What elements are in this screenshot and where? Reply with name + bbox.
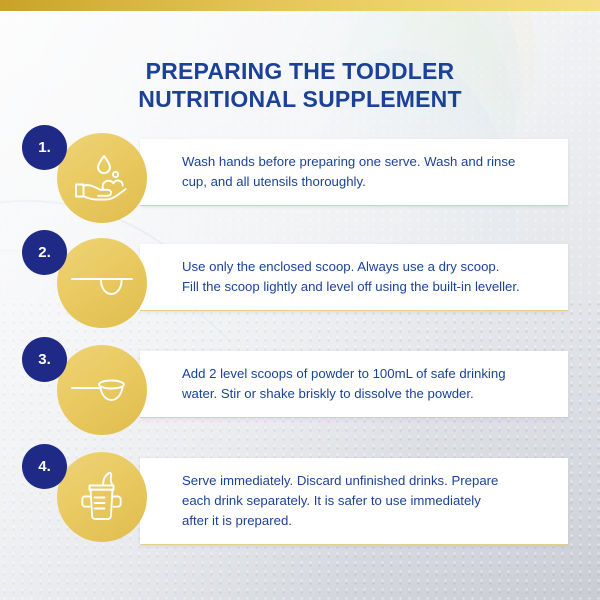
- hand-wash-icon: [73, 152, 131, 204]
- scoop-level-icon: [70, 263, 134, 303]
- step-number-badge-3: 3.: [22, 337, 67, 382]
- step-icon-disc-1: [57, 133, 147, 223]
- step-text-1: Wash hands before preparing one serve. W…: [182, 152, 550, 192]
- step-icon-disc-2: [57, 238, 147, 328]
- infographic-poster: PREPARING THE TODDLER NUTRITIONAL SUPPLE…: [0, 0, 600, 600]
- step-text-4: Serve immediately. Discard unfinished dr…: [182, 471, 550, 531]
- step-card-1: Wash hands before preparing one serve. W…: [140, 139, 568, 206]
- step-card-4: Serve immediately. Discard unfinished dr…: [140, 458, 568, 545]
- steps-list: Wash hands before preparing one serve. W…: [0, 0, 600, 600]
- scoop-filled-icon: [70, 369, 134, 411]
- step-number-badge-4: 4.: [22, 444, 67, 489]
- step-number-badge-1: 1.: [22, 125, 67, 170]
- step-text-2: Use only the enclosed scoop. Always use …: [182, 257, 550, 297]
- sippy-cup-icon: [73, 469, 131, 525]
- step-number-badge-2: 2.: [22, 230, 67, 275]
- step-icon-disc-3: [57, 345, 147, 435]
- step-card-3: Add 2 level scoops of powder to 100mL of…: [140, 351, 568, 418]
- step-card-2: Use only the enclosed scoop. Always use …: [140, 244, 568, 311]
- step-text-3: Add 2 level scoops of powder to 100mL of…: [182, 364, 550, 404]
- step-icon-disc-4: [57, 452, 147, 542]
